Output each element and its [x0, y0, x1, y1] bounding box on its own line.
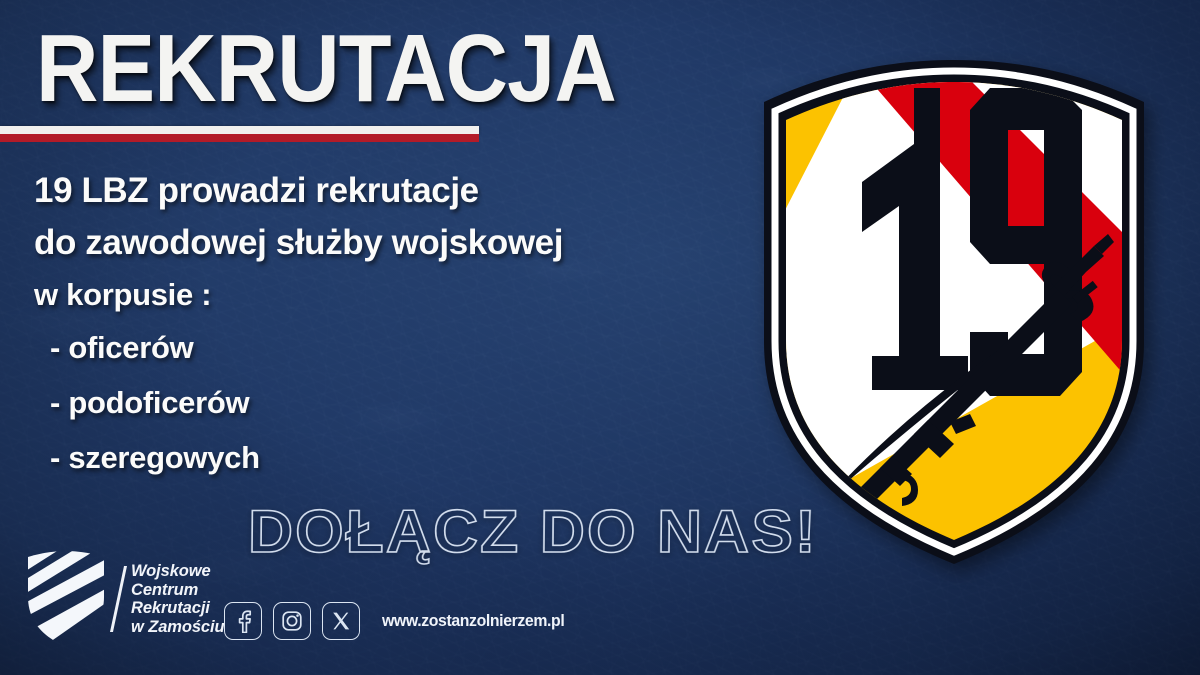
- title-divider: [0, 126, 479, 142]
- wcr-line-1: Wojskowe: [131, 562, 224, 581]
- divider-red-bar: [0, 134, 479, 142]
- wcr-line-4: w Zamościu: [131, 618, 224, 637]
- logo-divider-bar: [110, 566, 127, 632]
- wcr-logo-text: Wojskowe Centrum Rekrutacji w Zamościu: [131, 562, 224, 636]
- body-line-2: do zawodowej służby wojskowej: [34, 217, 754, 269]
- body-copy: 19 LBZ prowadzi rekrutacje do zawodowej …: [34, 165, 754, 485]
- instagram-icon[interactable]: [273, 602, 311, 640]
- body-line-1: 19 LBZ prowadzi rekrutacje: [34, 165, 754, 217]
- page-title: REKRUTACJA: [36, 17, 616, 121]
- bullet-nco: - podoficerów: [34, 375, 754, 430]
- wcr-shield-icon: [24, 551, 108, 647]
- social-links: www.zostanzolnierzem.pl: [224, 602, 578, 640]
- divider-white-bar: [0, 126, 479, 134]
- body-line-3: w korpusie :: [34, 269, 754, 320]
- wcr-line-2: Centrum: [131, 581, 224, 600]
- x-twitter-icon[interactable]: [322, 602, 360, 640]
- wcr-line-3: Rekrutacji: [131, 599, 224, 618]
- bullet-enlisted: - szeregowych: [34, 430, 754, 485]
- wcr-logo: Wojskowe Centrum Rekrutacji w Zamościu: [24, 551, 224, 647]
- facebook-icon[interactable]: [224, 602, 262, 640]
- 19-lbz-shield-emblem: [742, 42, 1182, 582]
- bullet-officers: - oficerów: [34, 320, 754, 375]
- website-url[interactable]: www.zostanzolnierzem.pl: [382, 611, 564, 631]
- recruitment-poster: REKRUTACJA 19 LBZ prowadzi rekrutacje do…: [0, 0, 1200, 675]
- cta-join-us: DOŁĄCZ DO NAS!: [248, 500, 818, 564]
